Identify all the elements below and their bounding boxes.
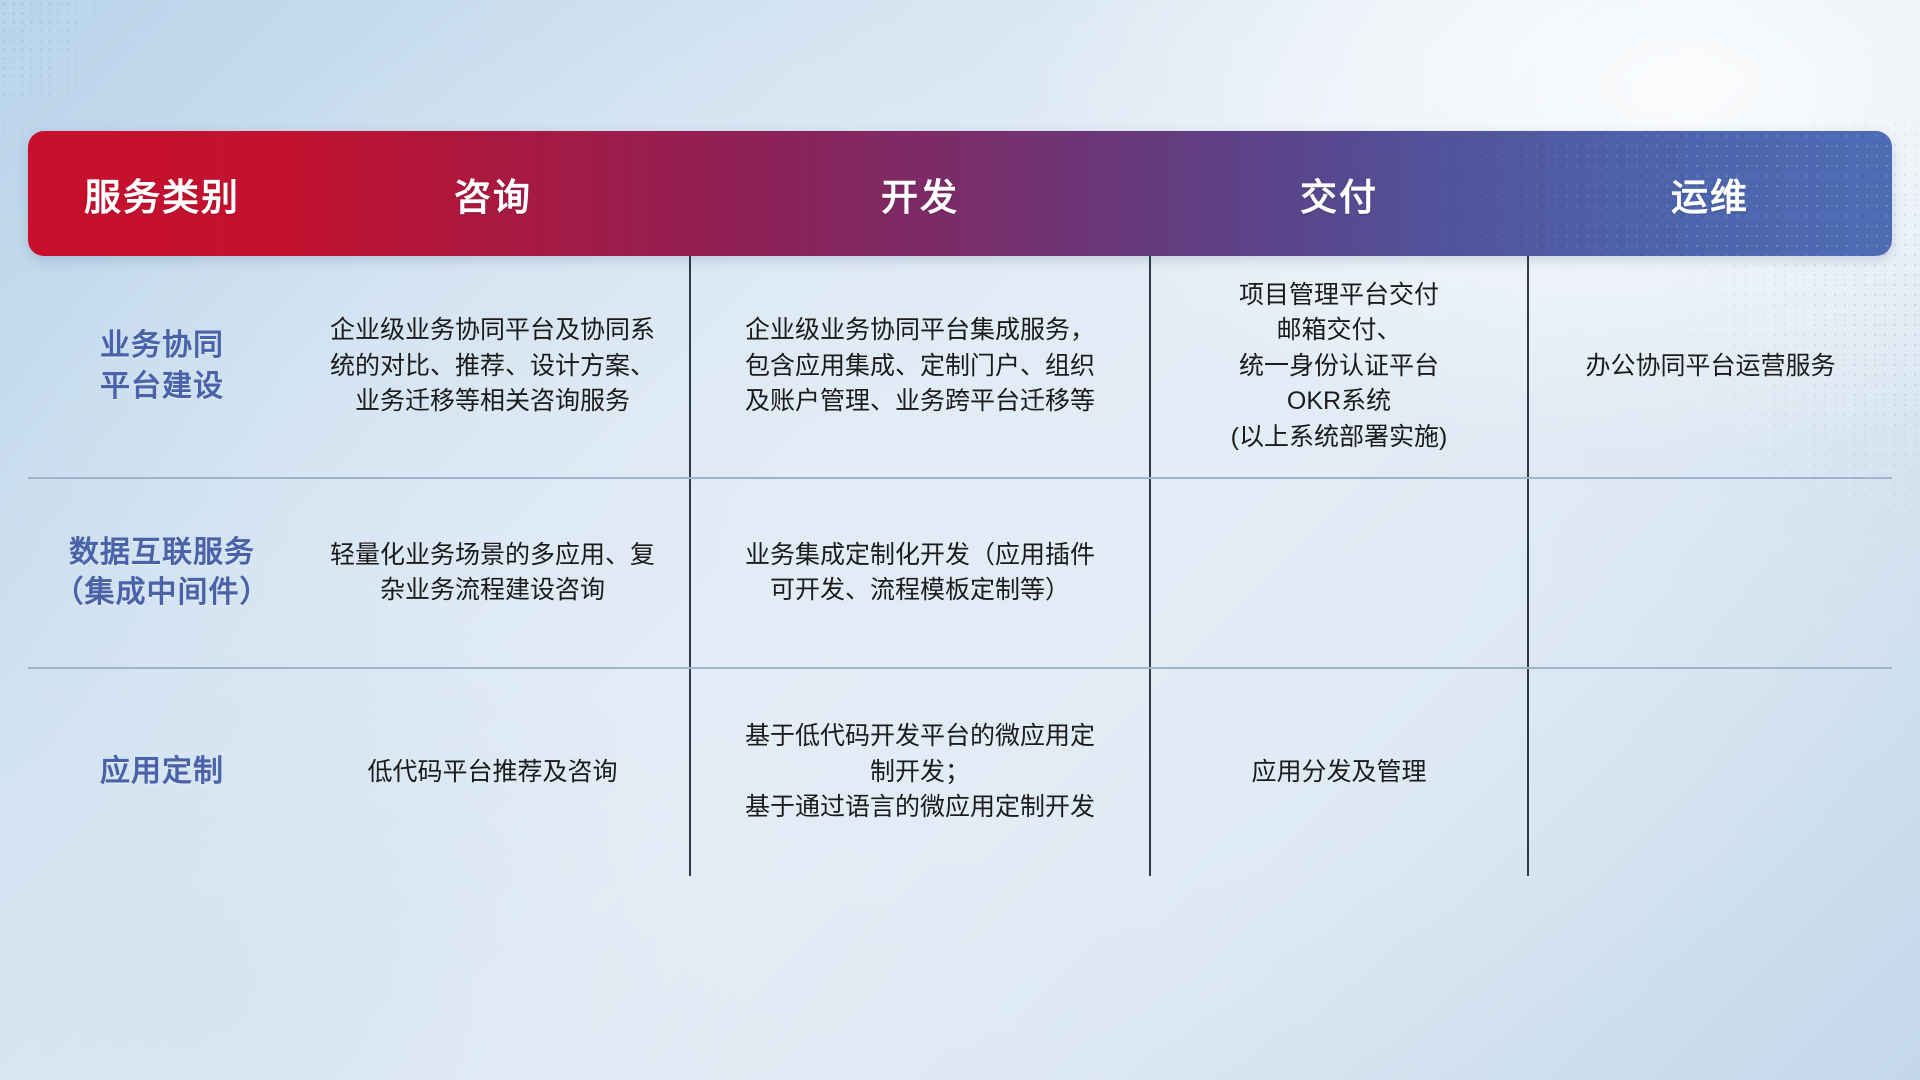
cell-consulting: 低代码平台推荐及咨询 xyxy=(296,668,690,876)
column-header-delivery: 交付 xyxy=(1150,131,1528,256)
slide-canvas: 服务类别 咨询 开发 交付 运维 业务协同 平台建设 企业级业务协同平台及协同系… xyxy=(0,0,1920,1080)
row-category-label: 业务协同 平台建设 xyxy=(28,256,296,478)
table-row: 业务协同 平台建设 企业级业务协同平台及协同系 统的对比、推荐、设计方案、 业务… xyxy=(28,256,1892,478)
cell-text: 轻量化业务场景的多应用、复 杂业务流程建设咨询 xyxy=(312,538,673,609)
cell-text: 基于低代码开发平台的微应用定 制开发； 基于通过语言的微应用定制开发 xyxy=(707,719,1133,826)
cell-development: 业务集成定制化开发（应用插件 可开发、流程模板定制等） xyxy=(690,478,1150,668)
cell-operations xyxy=(1528,668,1892,876)
column-header-development: 开发 xyxy=(690,131,1150,256)
cell-text: 业务协同 平台建设 xyxy=(44,326,280,406)
cell-text: 企业级业务协同平台及协同系 统的对比、推荐、设计方案、 业务迁移等相关咨询服务 xyxy=(312,313,673,420)
cell-text: 数据互联服务 （集成中间件） xyxy=(44,533,280,613)
column-header-consulting: 咨询 xyxy=(296,131,690,256)
cell-consulting: 企业级业务协同平台及协同系 统的对比、推荐、设计方案、 业务迁移等相关咨询服务 xyxy=(296,256,690,478)
cell-delivery: 应用分发及管理 xyxy=(1150,668,1528,876)
cell-text xyxy=(1545,573,1876,574)
table-row: 数据互联服务 （集成中间件） 轻量化业务场景的多应用、复 杂业务流程建设咨询 业… xyxy=(28,478,1892,668)
cell-text xyxy=(1167,573,1511,574)
cell-text: 业务集成定制化开发（应用插件 可开发、流程模板定制等） xyxy=(707,538,1133,609)
cell-delivery xyxy=(1150,478,1528,668)
row-category-label: 数据互联服务 （集成中间件） xyxy=(28,478,296,668)
column-header-category: 服务类别 xyxy=(28,131,296,256)
cell-delivery: 项目管理平台交付 邮箱交付、 统一身份认证平台 OKR系统 (以上系统部署实施) xyxy=(1150,256,1528,478)
cell-text: 企业级业务协同平台集成服务， 包含应用集成、定制门户、组织 及账户管理、业务跨平… xyxy=(707,313,1133,420)
cell-text: 低代码平台推荐及咨询 xyxy=(312,755,673,791)
cell-text: 项目管理平台交付 邮箱交付、 统一身份认证平台 OKR系统 (以上系统部署实施) xyxy=(1167,278,1511,456)
cell-operations: 办公协同平台运营服务 xyxy=(1528,256,1892,478)
cell-text: 应用定制 xyxy=(44,752,280,792)
table-row: 应用定制 低代码平台推荐及咨询 基于低代码开发平台的微应用定 制开发； 基于通过… xyxy=(28,668,1892,876)
cell-consulting: 轻量化业务场景的多应用、复 杂业务流程建设咨询 xyxy=(296,478,690,668)
cell-text: 办公协同平台运营服务 xyxy=(1545,349,1876,385)
service-table: 服务类别 咨询 开发 交付 运维 业务协同 平台建设 企业级业务协同平台及协同系… xyxy=(28,131,1892,876)
row-category-label: 应用定制 xyxy=(28,668,296,876)
cell-text: 应用分发及管理 xyxy=(1167,755,1511,791)
cell-operations xyxy=(1528,478,1892,668)
cell-development: 企业级业务协同平台集成服务， 包含应用集成、定制门户、组织 及账户管理、业务跨平… xyxy=(690,256,1150,478)
cell-text xyxy=(1545,772,1876,773)
column-header-operations: 运维 xyxy=(1528,131,1892,256)
cell-development: 基于低代码开发平台的微应用定 制开发； 基于通过语言的微应用定制开发 xyxy=(690,668,1150,876)
service-matrix: 服务类别 咨询 开发 交付 运维 业务协同 平台建设 企业级业务协同平台及协同系… xyxy=(28,131,1892,876)
table-header-row: 服务类别 咨询 开发 交付 运维 xyxy=(28,131,1892,256)
